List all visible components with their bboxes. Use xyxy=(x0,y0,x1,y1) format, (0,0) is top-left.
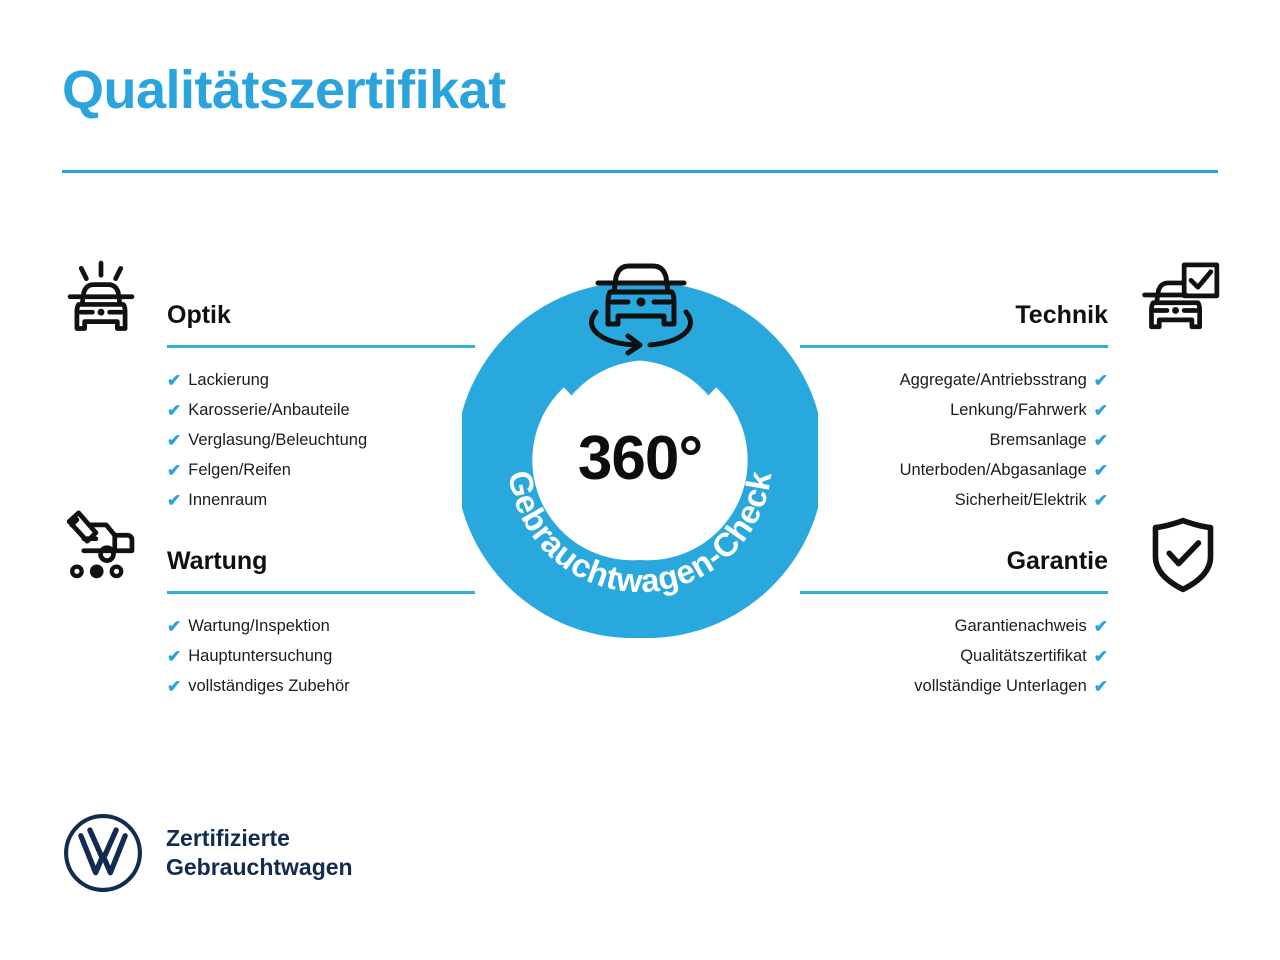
list-item-label: Aggregate/Antriebsstrang xyxy=(900,365,1087,395)
list-item: Unterboden/Abgasanlage✔ xyxy=(800,455,1108,485)
list-item: ✔Felgen/Reifen xyxy=(167,455,475,485)
section-garantie-list: Garantienachweis✔ Qualitätszertifikat✔ v… xyxy=(800,611,1108,701)
list-item: Qualitätszertifikat✔ xyxy=(800,641,1108,671)
car-checkbox-icon xyxy=(1136,258,1222,344)
car-rotate-360-icon xyxy=(580,252,702,356)
header-divider xyxy=(62,170,1218,173)
check-icon: ✔ xyxy=(1094,492,1108,509)
section-garantie-divider xyxy=(800,591,1108,594)
section-technik-divider xyxy=(800,345,1108,348)
section-wartung-head: Wartung xyxy=(167,546,475,594)
list-item-label: Hauptuntersuchung xyxy=(188,641,332,671)
list-item: Bremsanlage✔ xyxy=(800,425,1108,455)
list-item: Aggregate/Antriebsstrang✔ xyxy=(800,365,1108,395)
section-optik-list: ✔Lackierung ✔Karosserie/Anbauteile ✔Verg… xyxy=(167,365,475,515)
check-icon: ✔ xyxy=(1094,372,1108,389)
car-shine-icon xyxy=(58,258,144,344)
check-icon: ✔ xyxy=(167,372,181,389)
section-garantie-title: Garantie xyxy=(800,546,1108,576)
check-icon: ✔ xyxy=(167,678,181,695)
page-title: Qualitätszertifikat xyxy=(62,62,506,119)
list-item: vollständige Unterlagen✔ xyxy=(800,671,1108,701)
check-icon: ✔ xyxy=(167,402,181,419)
list-item-label: Garantienachweis xyxy=(955,611,1087,641)
check-icon: ✔ xyxy=(167,432,181,449)
shield-check-icon xyxy=(1140,512,1226,598)
check-icon: ✔ xyxy=(167,492,181,509)
check-icon: ✔ xyxy=(1094,648,1108,665)
section-optik-title: Optik xyxy=(167,300,475,330)
list-item: ✔vollständiges Zubehör xyxy=(167,671,475,701)
list-item-label: Unterboden/Abgasanlage xyxy=(900,455,1087,485)
degrees-label: 360° xyxy=(462,423,818,494)
section-garantie: Garantie Garantienachweis✔ Qualitätszert… xyxy=(800,546,1108,701)
list-item: Garantienachweis✔ xyxy=(800,611,1108,641)
check-icon: ✔ xyxy=(1094,462,1108,479)
section-wartung-list: ✔Wartung/Inspektion ✔Hauptuntersuchung ✔… xyxy=(167,611,475,701)
check-icon: ✔ xyxy=(167,648,181,665)
section-optik: Optik ✔Lackierung ✔Karosserie/Anbauteile… xyxy=(167,300,475,515)
list-item-label: Wartung/Inspektion xyxy=(188,611,330,641)
section-technik-title: Technik xyxy=(800,300,1108,330)
vw-certified-line1: Zertifizierte xyxy=(166,824,353,853)
list-item: Lenkung/Fahrwerk✔ xyxy=(800,395,1108,425)
check-icon: ✔ xyxy=(1094,618,1108,635)
section-technik-list: Aggregate/Antriebsstrang✔ Lenkung/Fahrwe… xyxy=(800,365,1108,515)
vw-certified-line2: Gebrauchtwagen xyxy=(166,853,353,882)
list-item-label: Innenraum xyxy=(188,485,267,515)
check-icon: ✔ xyxy=(1094,678,1108,695)
list-item: Sicherheit/Elektrik✔ xyxy=(800,485,1108,515)
section-wartung: Wartung ✔Wartung/Inspektion ✔Hauptunters… xyxy=(167,546,475,701)
check-icon: ✔ xyxy=(167,462,181,479)
vw-certified-text: Zertifizierte Gebrauchtwagen xyxy=(166,824,353,882)
list-item-label: Lackierung xyxy=(188,365,269,395)
section-optik-divider xyxy=(167,345,475,348)
service-book-pen-icon xyxy=(58,506,144,592)
list-item: ✔Hauptuntersuchung xyxy=(167,641,475,671)
gebrauchtwagen-check-badge: Gebrauchtwagen-Check 360° xyxy=(462,282,818,638)
check-icon: ✔ xyxy=(1094,402,1108,419)
list-item-label: Lenkung/Fahrwerk xyxy=(950,395,1087,425)
check-icon: ✔ xyxy=(1094,432,1108,449)
list-item-label: Karosserie/Anbauteile xyxy=(188,395,349,425)
list-item-label: Verglasung/Beleuchtung xyxy=(188,425,367,455)
list-item-label: Sicherheit/Elektrik xyxy=(955,485,1087,515)
list-item-label: Felgen/Reifen xyxy=(188,455,291,485)
section-wartung-title: Wartung xyxy=(167,546,475,576)
list-item: ✔Wartung/Inspektion xyxy=(167,611,475,641)
check-icon: ✔ xyxy=(167,618,181,635)
section-garantie-head: Garantie xyxy=(800,546,1108,594)
list-item: ✔Innenraum xyxy=(167,485,475,515)
section-wartung-divider xyxy=(167,591,475,594)
list-item: ✔Verglasung/Beleuchtung xyxy=(167,425,475,455)
list-item-label: Bremsanlage xyxy=(990,425,1087,455)
vw-certified-badge: Zertifizierte Gebrauchtwagen xyxy=(62,812,353,894)
list-item: ✔Karosserie/Anbauteile xyxy=(167,395,475,425)
list-item: ✔Lackierung xyxy=(167,365,475,395)
section-technik: Technik Aggregate/Antriebsstrang✔ Lenkun… xyxy=(800,300,1108,515)
volkswagen-logo xyxy=(62,812,144,894)
list-item-label: Qualitätszertifikat xyxy=(960,641,1087,671)
section-optik-head: Optik xyxy=(167,300,475,348)
list-item-label: vollständiges Zubehör xyxy=(188,671,349,701)
list-item-label: vollständige Unterlagen xyxy=(914,671,1086,701)
section-technik-head: Technik xyxy=(800,300,1108,348)
